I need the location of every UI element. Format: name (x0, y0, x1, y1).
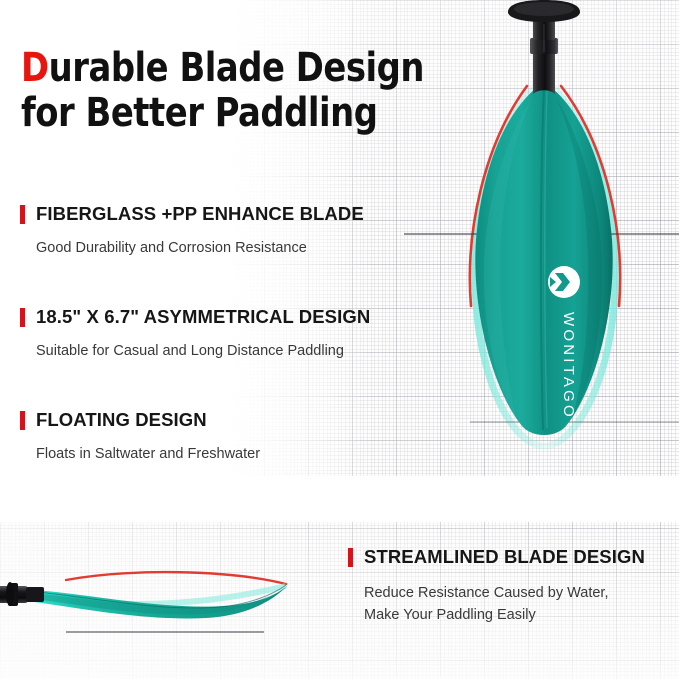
paddle-blade-front-view: WONITAGO (404, 0, 679, 494)
feature-subtitle-line-1: Reduce Resistance Caused by Water, (364, 582, 645, 604)
guide-curve-top (66, 572, 286, 584)
red-bullet-bar-icon (20, 308, 25, 327)
title-line-2: for Better Paddling (21, 91, 378, 136)
feature-heading-row: FLOATING DESIGN (20, 409, 260, 431)
feature-subtitle-line-2: Make Your Paddling Easily (364, 604, 645, 626)
feature-title: 18.5" X 6.7" ASYMMETRICAL DESIGN (36, 306, 370, 328)
feature-title: FLOATING DESIGN (36, 409, 207, 431)
feature-item-streamlined: STREAMLINED BLADE DESIGN Reduce Resistan… (348, 546, 645, 626)
brand-logo-icon (548, 266, 580, 298)
title-drop-cap: D (21, 45, 49, 91)
page-title: Durable Blade Design for Better Paddling (21, 46, 378, 136)
feature-title: STREAMLINED BLADE DESIGN (364, 546, 645, 568)
feature-subtitle: Suitable for Casual and Long Distance Pa… (36, 340, 370, 362)
infographic-page: Durable Blade Design for Better Paddling… (0, 0, 679, 679)
feature-title: FIBERGLASS +PP ENHANCE BLADE (36, 203, 364, 225)
feature-item-asymmetrical: 18.5" X 6.7" ASYMMETRICAL DESIGN Suitabl… (20, 306, 370, 362)
feature-subtitle: Good Durability and Corrosion Resistance (36, 237, 364, 259)
red-bullet-bar-icon (20, 411, 25, 430)
red-bullet-bar-icon (348, 548, 353, 567)
feature-heading-row: 18.5" X 6.7" ASYMMETRICAL DESIGN (20, 306, 370, 328)
feature-item-floating: FLOATING DESIGN Floats in Saltwater and … (20, 409, 260, 465)
title-line-1: urable Blade Design (49, 45, 424, 91)
edge-drip-ring (6, 582, 14, 606)
feature-subtitle: Floats in Saltwater and Freshwater (36, 443, 260, 465)
brand-wordmark: WONITAGO (560, 312, 577, 420)
paddle-shaft (533, 50, 555, 94)
drip-ring-top-face (514, 2, 574, 16)
feature-heading-row: STREAMLINED BLADE DESIGN (348, 546, 645, 568)
feature-item-fiberglass: FIBERGLASS +PP ENHANCE BLADE Good Durabi… (20, 203, 364, 259)
feature-subtitle: Reduce Resistance Caused by Water, Make … (364, 582, 645, 626)
red-bullet-bar-icon (20, 205, 25, 224)
paddle-blade-edge-view (0, 528, 344, 648)
edge-shaft-throat (26, 587, 44, 602)
feature-heading-row: FIBERGLASS +PP ENHANCE BLADE (20, 203, 364, 225)
